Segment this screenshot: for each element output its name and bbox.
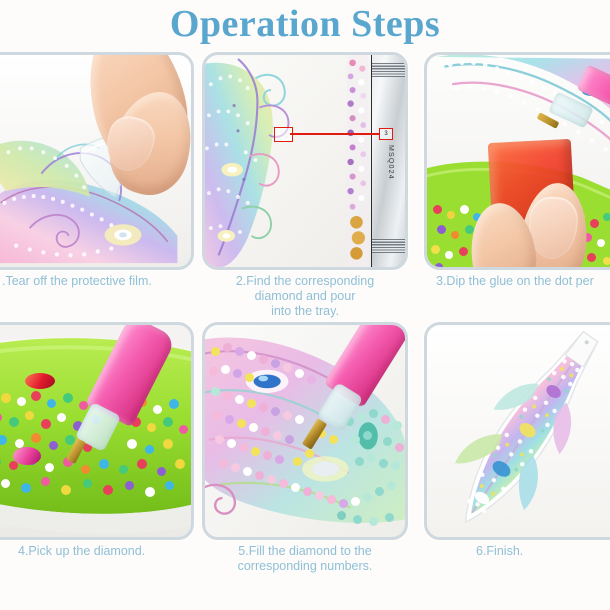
step-2-caption: 2.Find the corresponding diamond and pou… <box>202 274 408 319</box>
packet-crimp-bottom <box>372 239 405 253</box>
step-2-scene: MSQ024 3 <box>205 55 405 267</box>
step-4-image-panel <box>0 322 194 540</box>
packet-crimp-top <box>372 63 405 77</box>
step-6-image-panel <box>424 322 610 540</box>
diamond-packet: MSQ024 <box>371 55 405 267</box>
packet-number-callout: 3 <box>379 128 393 140</box>
step-5-caption: 5.Fill the diamond to the corresponding … <box>202 544 408 574</box>
step-5-scene <box>205 325 405 537</box>
step-3-image-panel <box>424 52 610 270</box>
step-4-caption: 4.Pick up the diamond. <box>0 544 228 559</box>
step-6-caption: 6.Finish. <box>424 544 610 559</box>
callout-connector-line <box>290 133 380 135</box>
step-5-image-panel <box>202 322 408 540</box>
packet-code-label: MSQ024 <box>387 145 394 180</box>
captions-row-top: .Tear off the protective film. 2.Find th… <box>0 274 610 320</box>
captions-row-bottom: 4.Pick up the diamond. 5.Fill the diamon… <box>0 544 610 590</box>
steps-row-top: MSQ024 3 <box>0 52 610 270</box>
step-2-image-panel: MSQ024 3 <box>202 52 408 270</box>
large-red-gem <box>25 373 55 389</box>
step-4-scene <box>0 325 191 537</box>
steps-row-bottom <box>0 322 610 540</box>
step-6-scene <box>427 325 610 537</box>
page-title: Operation Steps <box>0 2 610 46</box>
step-3-caption: 3.Dip the glue on the dot per <box>424 274 610 289</box>
large-pink-gem <box>13 447 41 465</box>
finished-bookmark-illustration <box>427 325 610 537</box>
step-1-image-panel <box>0 52 194 270</box>
step-1-caption: .Tear off the protective film. <box>0 274 212 289</box>
step-3-scene <box>427 55 610 267</box>
operation-steps-infographic: Operation Steps <box>0 0 610 610</box>
step-1-scene <box>0 55 191 267</box>
